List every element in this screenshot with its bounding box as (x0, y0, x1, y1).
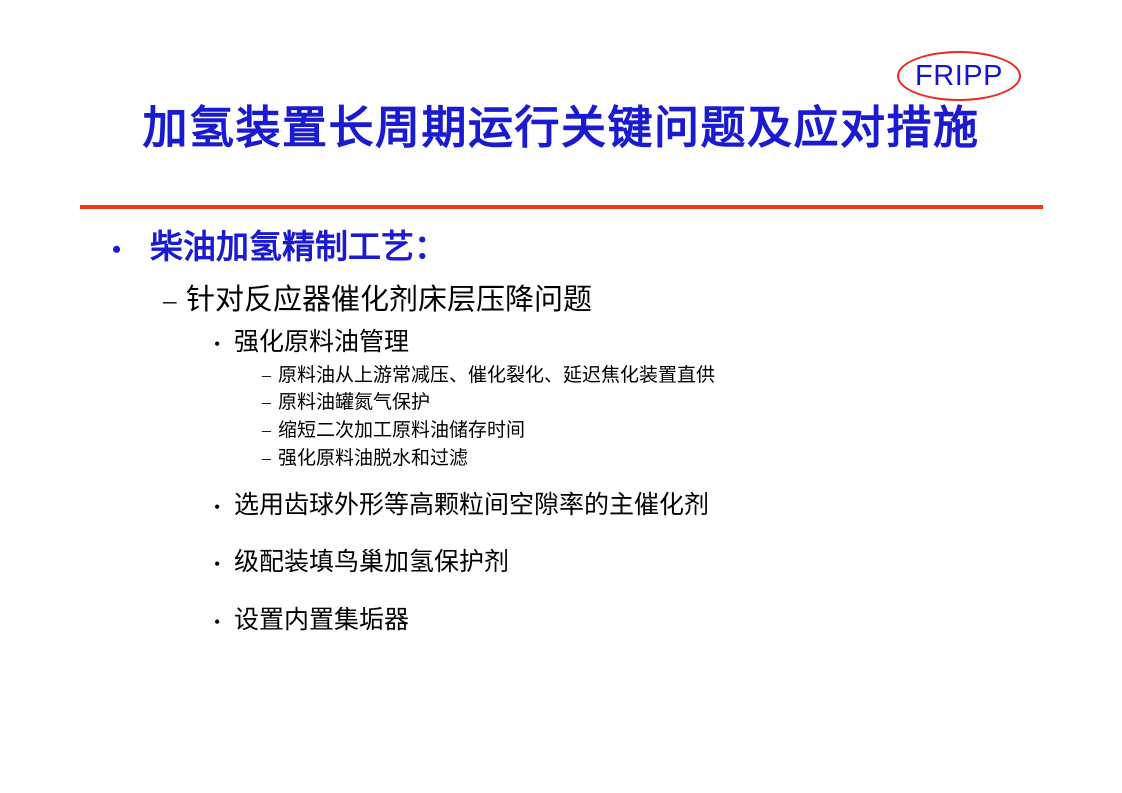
slide-body: • 柴油加氢精制工艺： – 针对反应器催化剂床层压降问题 • 强化原料油管理 –… (0, 228, 1122, 636)
page-title: 加氢装置长周期运行关键问题及应对措施 (0, 103, 1122, 153)
bullet-marker-level4: – (262, 362, 278, 388)
bullet-text-level1: 柴油加氢精制工艺： (150, 228, 447, 269)
bullet-marker-level3: • (214, 333, 234, 356)
bullet-text-level3: 选用齿球外形等高颗粒间空隙率的主催化剂 (234, 490, 709, 521)
slide: FRIPP 加氢装置长周期运行关键问题及应对措施 • 柴油加氢精制工艺： – 针… (0, 0, 1122, 793)
bullet-text-level3: 强化原料油管理 (234, 327, 409, 358)
bullet-text-level3: 设置内置集垢器 (234, 605, 409, 636)
bullet-marker-level1: • (112, 234, 150, 267)
bullet-level3: • 级配装填鸟巢加氢保护剂 (214, 547, 1122, 578)
bullet-level4: – 强化原料油脱水和过滤 (262, 445, 1122, 473)
bullet-text-level4: 原料油从上游常减压、催化裂化、延迟焦化装置直供 (278, 362, 715, 390)
bullet-marker-level2: – (163, 284, 186, 317)
sublist-group: – 原料油从上游常减压、催化裂化、延迟焦化装置直供 – 原料油罐氮气保护 – 缩… (0, 362, 1122, 472)
bullet-level1: • 柴油加氢精制工艺： (112, 228, 1122, 269)
bullet-marker-level4: – (262, 445, 278, 471)
bullet-text-level3: 级配装填鸟巢加氢保护剂 (234, 547, 509, 578)
title-divider (80, 205, 1043, 209)
bullet-marker-level4: – (262, 389, 278, 415)
bullet-text-level4: 强化原料油脱水和过滤 (278, 445, 468, 473)
bullet-marker-level3: • (214, 496, 234, 519)
bullet-text-level4: 原料油罐氮气保护 (278, 389, 430, 417)
bullet-marker-level4: – (262, 417, 278, 443)
bullet-level4: – 原料油罐氮气保护 (262, 389, 1122, 417)
bullet-text-level2: 针对反应器催化剂床层压降问题 (186, 283, 592, 318)
bullet-level2: – 针对反应器催化剂床层压降问题 (163, 283, 1122, 318)
bullet-level4: – 原料油从上游常减压、催化裂化、延迟焦化装置直供 (262, 362, 1122, 390)
bullet-text-level4: 缩短二次加工原料油储存时间 (278, 417, 525, 445)
fripp-logo: FRIPP (897, 51, 1021, 101)
bullet-marker-level3: • (214, 553, 234, 576)
bullet-level3: • 强化原料油管理 (214, 327, 1122, 358)
bullet-level4: – 缩短二次加工原料油储存时间 (262, 417, 1122, 445)
logo-text: FRIPP (897, 51, 1021, 101)
bullet-marker-level3: • (214, 611, 234, 634)
bullet-level3: • 选用齿球外形等高颗粒间空隙率的主催化剂 (214, 490, 1122, 521)
bullet-level3: • 设置内置集垢器 (214, 605, 1122, 636)
